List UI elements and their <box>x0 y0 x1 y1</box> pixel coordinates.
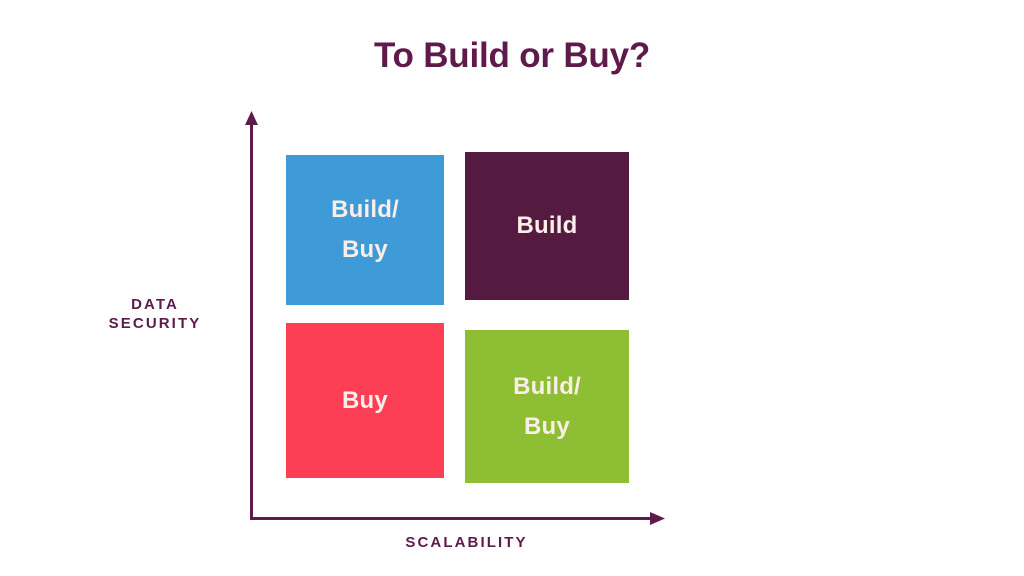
y-axis-arrow-icon <box>245 111 258 125</box>
quadrant-bottom-right: Build/ Buy <box>465 330 629 483</box>
quadrant-bottom-left-label-line-1: Buy <box>342 381 388 421</box>
quadrant-top-left-label-line-2: Buy <box>331 230 399 270</box>
quadrant-top-right: Build <box>465 152 629 300</box>
quadrant-bottom-right-label-line-2: Buy <box>513 407 581 447</box>
quadrant-top-right-label: Build <box>517 206 578 246</box>
quadrant-bottom-right-label: Build/ Buy <box>513 367 581 447</box>
quadrant-top-right-label-line-1: Build <box>517 206 578 246</box>
quadrant-bottom-left: Buy <box>286 323 444 478</box>
x-axis-arrow-icon <box>650 512 665 525</box>
x-axis-label: SCALABILITY <box>300 534 633 551</box>
y-axis-label: DATA SECURITY <box>55 295 255 333</box>
quadrant-top-left-label-line-1: Build/ <box>331 190 399 230</box>
page-title: To Build or Buy? <box>0 36 1024 76</box>
quadrant-chart-canvas: To Build or Buy? DATA SECURITY SCALABILI… <box>0 0 1024 576</box>
quadrant-bottom-left-label: Buy <box>342 381 388 421</box>
y-axis-label-line-2: SECURITY <box>55 314 255 333</box>
quadrant-top-left: Build/ Buy <box>286 155 444 305</box>
quadrant-top-left-label: Build/ Buy <box>331 190 399 270</box>
quadrant-bottom-right-label-line-1: Build/ <box>513 367 581 407</box>
y-axis-label-line-1: DATA <box>55 295 255 314</box>
